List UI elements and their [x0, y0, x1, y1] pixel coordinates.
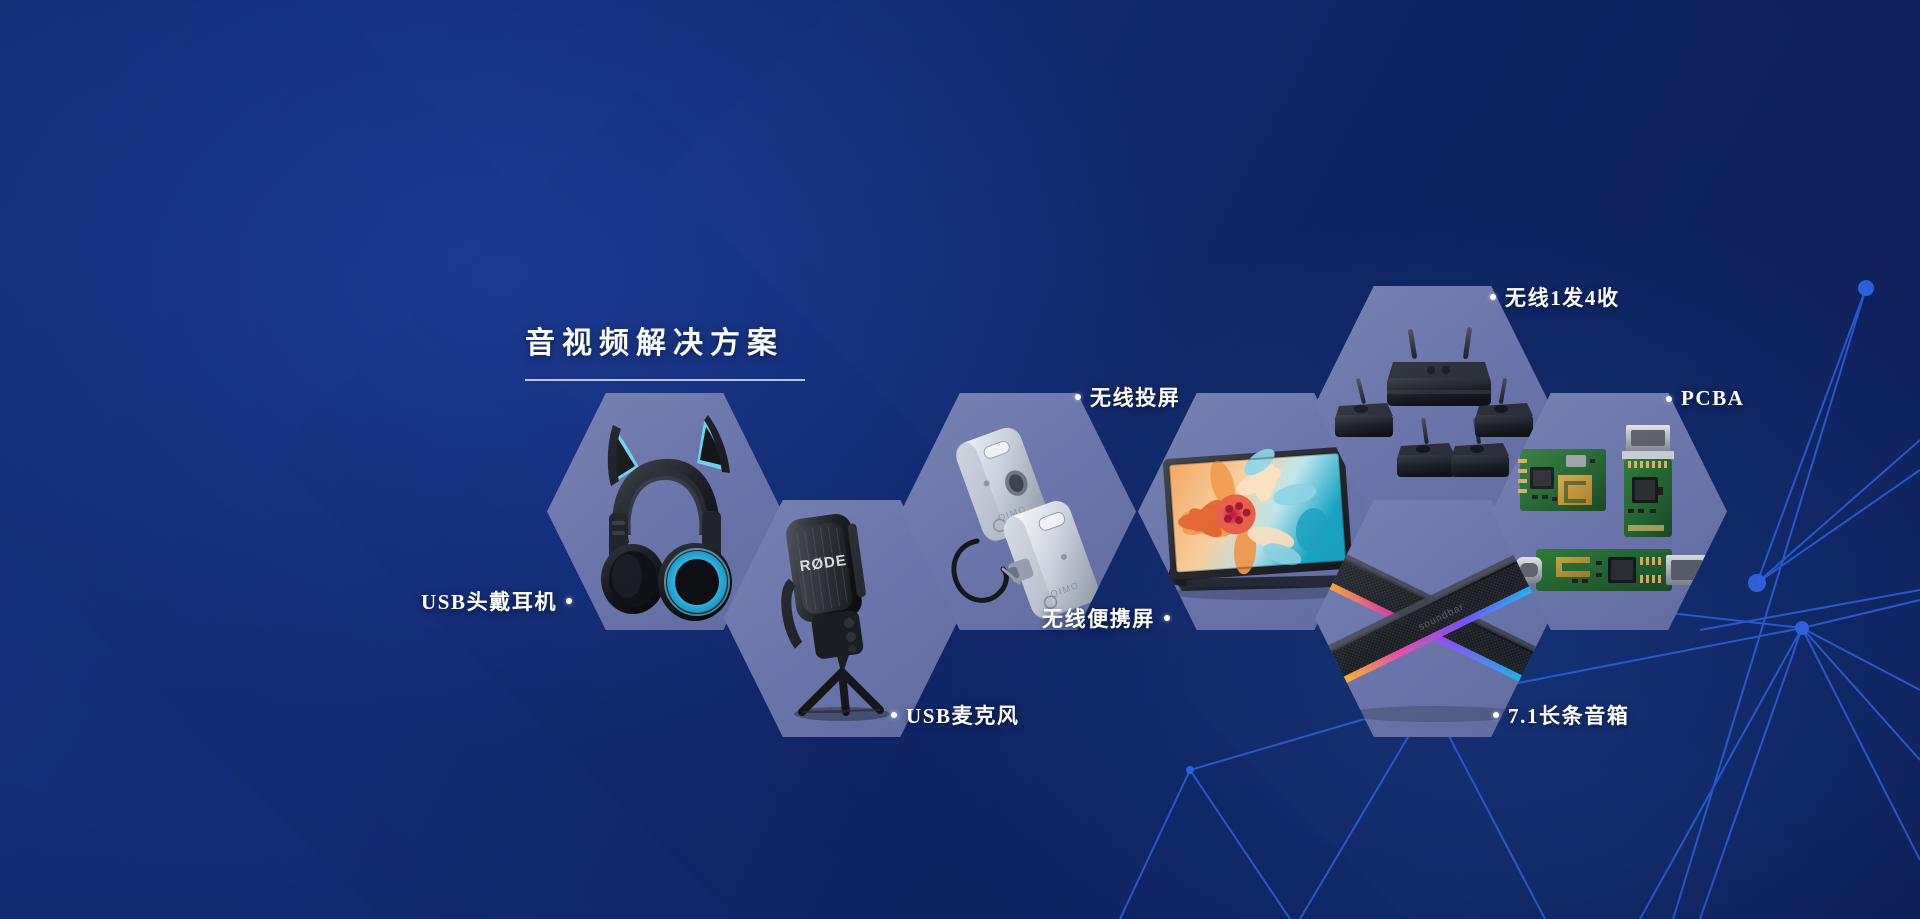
bullet-dot-icon	[891, 712, 897, 718]
label-pcba-text: PCBA	[1681, 386, 1745, 411]
label-wireless-casting-text: 无线投屏	[1090, 382, 1180, 412]
bullet-dot-icon	[1493, 712, 1499, 718]
label-usb-headset: USB头戴耳机	[421, 586, 572, 616]
bullet-dot-icon	[1490, 294, 1496, 300]
label-wireless-casting: 无线投屏	[1075, 382, 1180, 412]
label-usb-microphone-text: USB麦克风	[906, 700, 1019, 730]
page-title: 音视频解决方案	[525, 318, 815, 362]
bullet-dot-icon	[1075, 394, 1081, 400]
page-title-block: 音视频解决方案	[525, 318, 815, 381]
bullet-dot-icon	[1164, 615, 1170, 621]
bullet-dot-icon	[1666, 396, 1672, 402]
label-wireless-1t4r-text: 无线1发4收	[1505, 282, 1620, 312]
title-underline	[525, 379, 805, 381]
label-usb-headset-text: USB头戴耳机	[421, 586, 557, 616]
label-portable-monitor: 无线便携屏	[1042, 603, 1170, 633]
label-usb-microphone: USB麦克风	[891, 700, 1019, 730]
label-pcba: PCBA	[1666, 386, 1745, 411]
bullet-dot-icon	[566, 598, 572, 604]
label-portable-monitor-text: 无线便携屏	[1042, 603, 1155, 633]
label-wireless-1t4r: 无线1发4收	[1490, 282, 1620, 312]
label-soundbar: 7.1长条音箱	[1493, 700, 1629, 730]
label-soundbar-text: 7.1长条音箱	[1508, 700, 1629, 730]
